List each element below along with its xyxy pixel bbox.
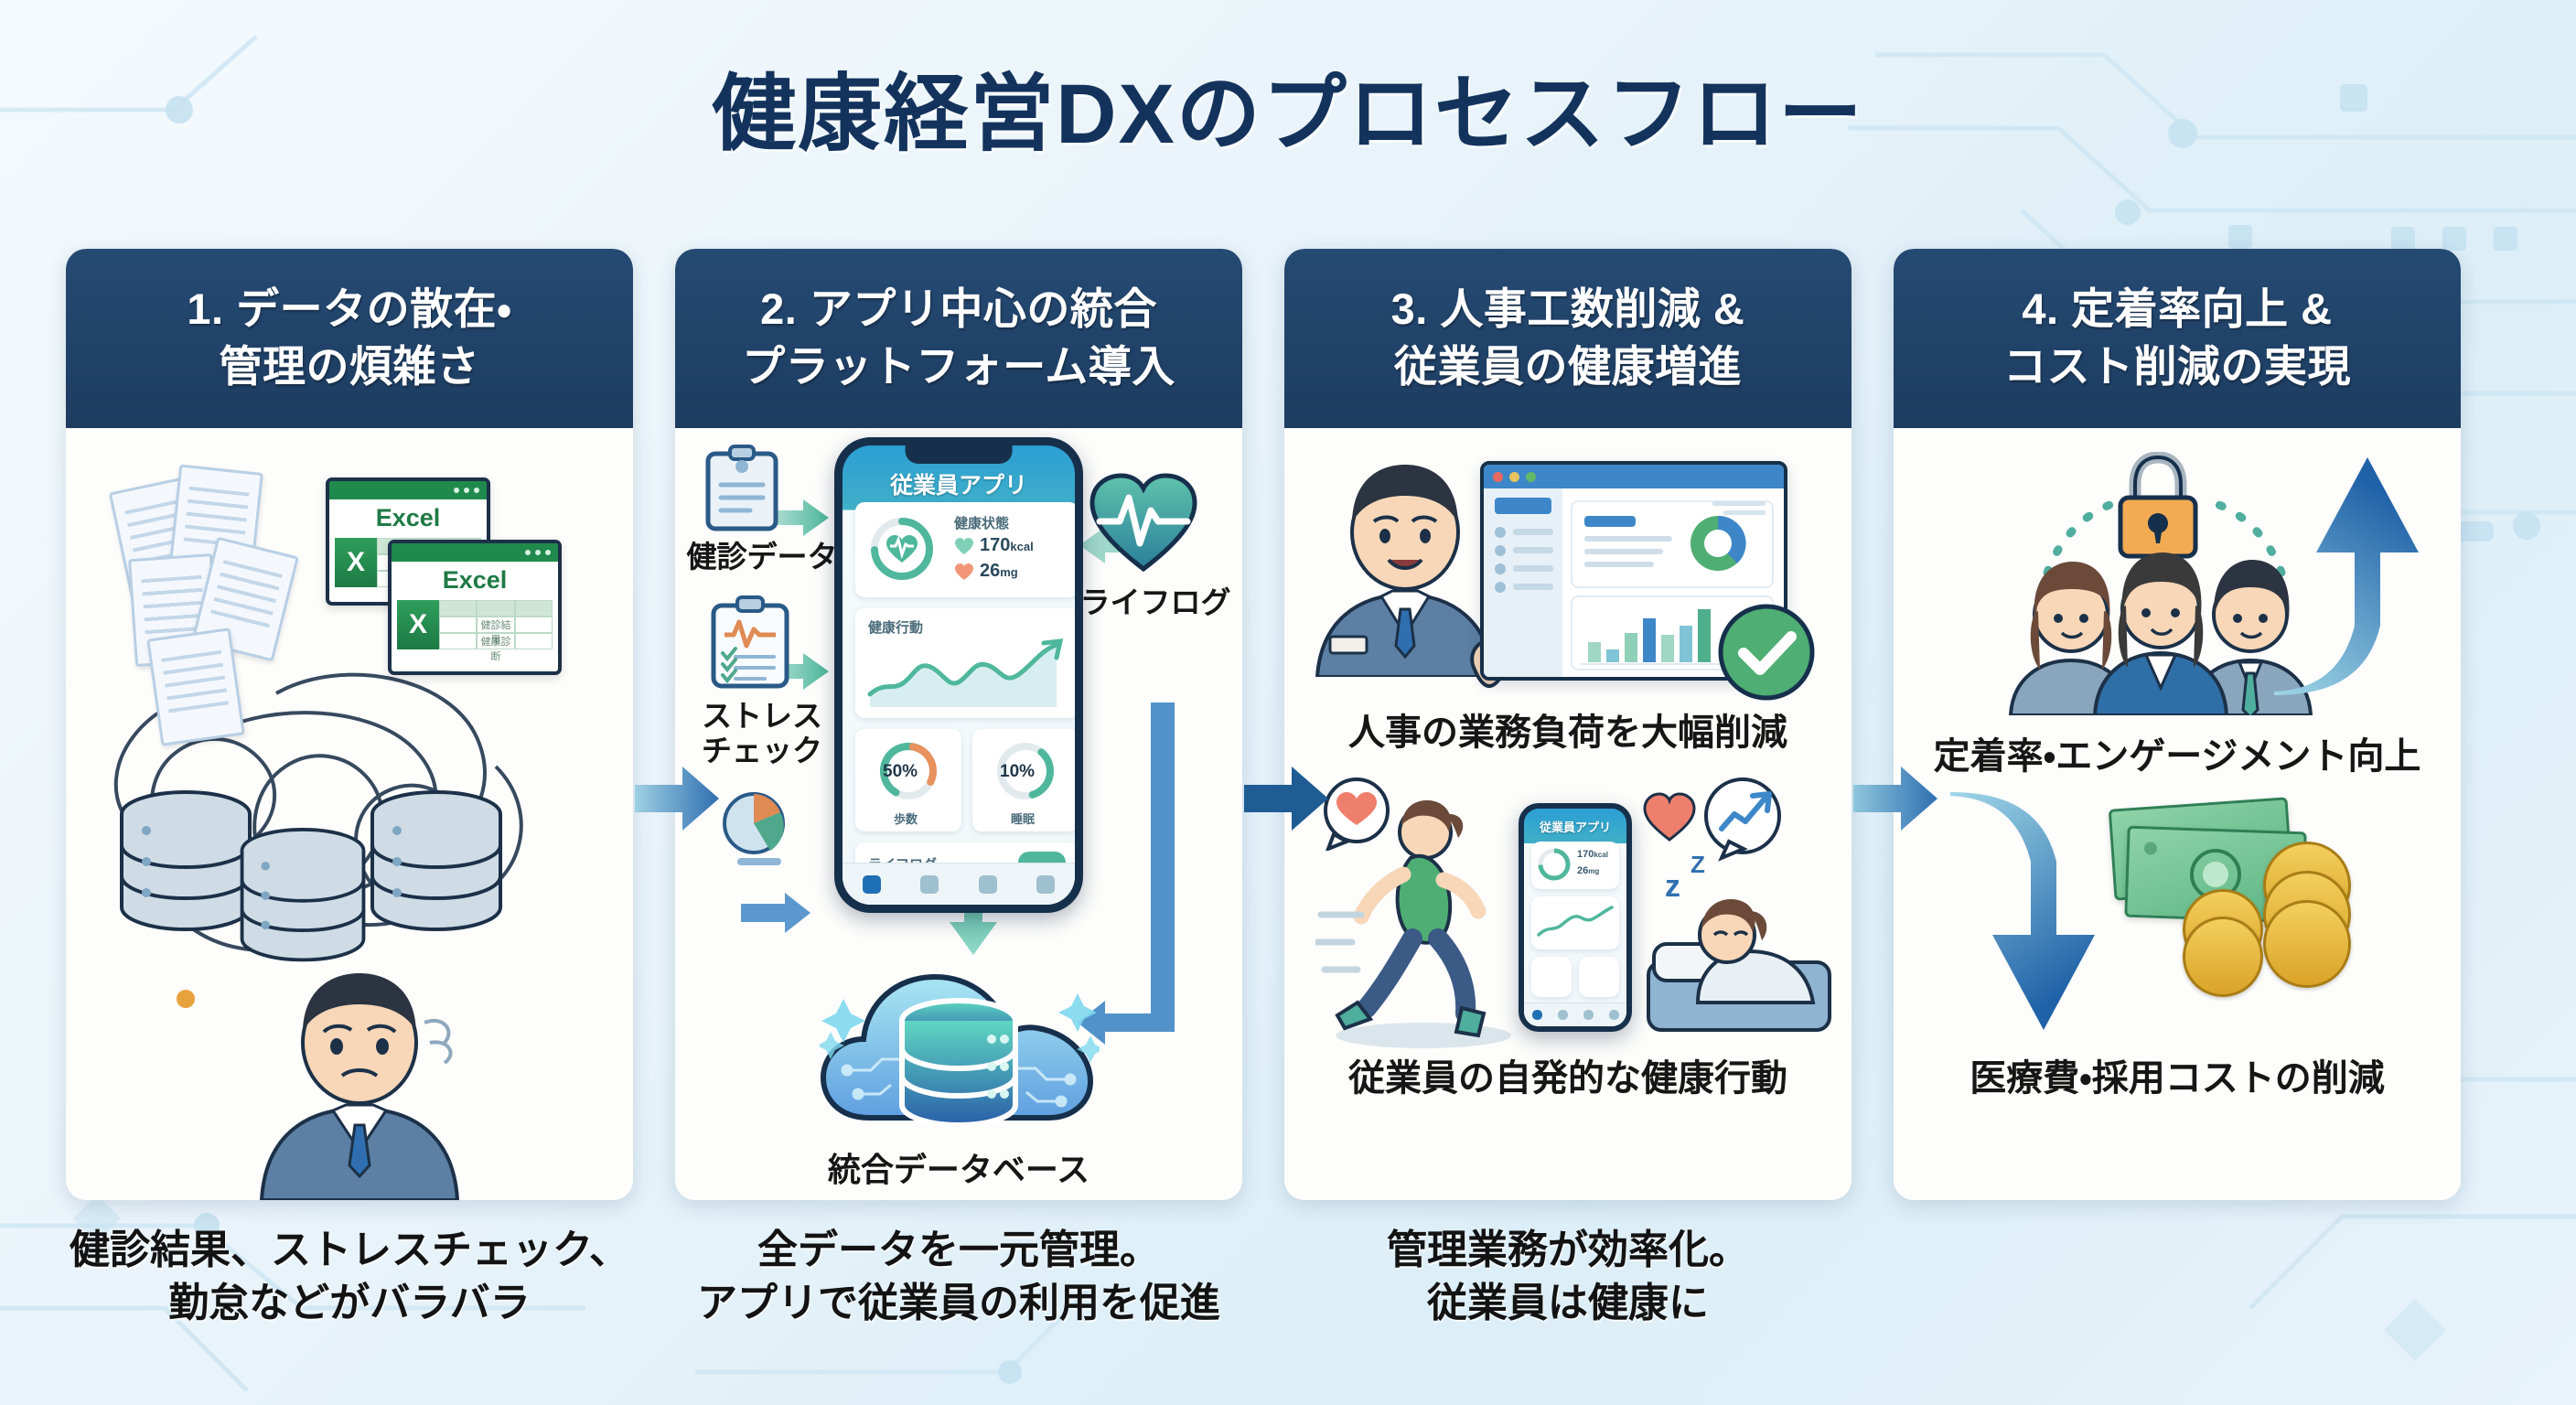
phone-status-card: 健康状態 170kcal 26mg xyxy=(855,502,1079,597)
window-maximize-icon[interactable] xyxy=(1526,472,1536,482)
step-card-3: 3. 人事工数削減 & 従業員の健康増進 xyxy=(1284,249,1851,1330)
phone-status-label: 健康状態 xyxy=(954,513,1009,532)
nav-chat-icon[interactable] xyxy=(979,875,997,894)
step-2-caption: 全データを一元管理。 アプリで従業員の利用を促進 xyxy=(697,1224,1220,1330)
document-sheet xyxy=(146,627,245,746)
step-1-illustration: Excel X Excel X xyxy=(66,428,633,1200)
nav-profile-icon[interactable] xyxy=(1036,875,1055,894)
step-4-header-line2: コスト削減の実現 xyxy=(1908,340,2446,392)
phone-gauge-1-label: 歩数 xyxy=(894,810,918,827)
phone-metric-1-unit: kcal xyxy=(1010,540,1033,553)
phone-metric-1-value: 170 xyxy=(980,535,1010,555)
phone-app-title-small: 従業員アプリ xyxy=(1524,818,1626,835)
health-checkup-clipboard-icon xyxy=(703,445,781,532)
phone-notch xyxy=(906,445,1013,464)
phone-metric-2-unit: mg xyxy=(1000,565,1018,579)
step-4-label-bottom: 医療費・採用コストの削減 xyxy=(1894,1057,2461,1099)
excel-logo-x: X xyxy=(397,600,439,649)
calorie-heart-icon xyxy=(954,537,974,555)
phone-mini-metric-2: 26mg xyxy=(1577,865,1599,876)
retention-up-arrow-icon xyxy=(2267,446,2422,695)
step-1-card: 1. データの散在・ 管理の煩雑さ xyxy=(66,249,633,1200)
health-ring-chart xyxy=(868,515,936,583)
excel-window-front: Excel X 健診結果 健康診断 xyxy=(388,540,562,675)
step-3-header: 3. 人事工数削減 & 従業員の健康増進 xyxy=(1284,249,1851,428)
analytics-pie-icon xyxy=(714,787,801,874)
nav-profile-icon[interactable] xyxy=(1609,1010,1619,1020)
excel-cells: 健診結果 健康診断 xyxy=(439,600,553,649)
stress-check-clipboard-icon xyxy=(708,595,792,692)
step-3-header-line2: 従業員の健康増進 xyxy=(1299,340,1837,392)
lifelog-heart-pulse-icon xyxy=(1087,470,1200,578)
svg-text:z: z xyxy=(1665,869,1680,904)
nav-home-icon[interactable] xyxy=(863,875,881,894)
step-2-illustration: 健診データ ストレス チェック xyxy=(675,428,1242,1200)
phone-mini-metric-1: 170kcal xyxy=(1577,849,1608,860)
database-cylinder-icon xyxy=(364,787,509,940)
step-2-header: 2. アプリ中心の統合 プラットフォーム導入 xyxy=(675,249,1242,428)
window-close-icon[interactable] xyxy=(1493,472,1503,482)
page-title: 健康経営DXのプロセスフロー xyxy=(0,46,2576,167)
coin-icon xyxy=(2263,900,2351,988)
success-check-icon xyxy=(1716,602,1817,702)
step-2-card: 2. アプリ中心の統合 プラットフォーム導入 xyxy=(675,249,1242,1200)
sheet-row-2: 健康診断 xyxy=(477,633,514,649)
step-2-header-line2: プラットフォーム導入 xyxy=(690,340,1228,392)
phone-bottom-nav[interactable] xyxy=(843,863,1075,905)
database-label: 統合データベース xyxy=(675,1151,1242,1189)
step-4-header: 4. 定着率向上 & コスト削減の実現 xyxy=(1894,249,2461,428)
sheet-row-1: 健診結果 xyxy=(477,617,514,633)
phone-bottom-nav-small[interactable] xyxy=(1524,1003,1626,1026)
step-1-header-line2: 管理の煩雑さ xyxy=(80,340,618,392)
nav-home-icon[interactable] xyxy=(1532,1010,1542,1020)
window-minimize-icon[interactable] xyxy=(1509,472,1519,482)
phone-gauge-1-value: 50% xyxy=(883,762,918,782)
input-label-health-checkup: 健診データ xyxy=(675,540,849,574)
step-card-4: 4. 定着率向上 & コスト削減の実現 xyxy=(1894,249,2461,1224)
input-label-lifelog: ライフログ xyxy=(1068,585,1242,620)
worried-employee-illustration xyxy=(245,955,474,1200)
database-cylinder-icon xyxy=(234,823,371,971)
sleeping-employee-illustration: z Z xyxy=(1643,842,1835,1043)
phone-metric-2-value: 26 xyxy=(980,561,1000,581)
mini-trend-chart xyxy=(1535,904,1615,942)
employee-app-phone: 従業員アプリ 健康状態 xyxy=(834,437,1083,913)
nav-record-icon[interactable] xyxy=(1558,1010,1568,1020)
arrow-step1-to-step2 xyxy=(635,767,719,831)
arrow-step2-to-step3 xyxy=(1244,767,1328,831)
heart-icon xyxy=(954,563,974,581)
step-3-card: 3. 人事工数削減 & 従業員の健康増進 xyxy=(1284,249,1851,1200)
step-3-label-bottom: 従業員の自発的な健康行動 xyxy=(1284,1057,1851,1099)
step-3-caption: 管理業務が効率化。 従業員は健康に xyxy=(1387,1224,1749,1330)
phone-metric-2: 26mg xyxy=(980,561,1018,582)
step-2-header-line1: 2. アプリ中心の統合 xyxy=(690,283,1228,335)
step-card-1: 1. データの散在・ 管理の煩雑さ xyxy=(66,249,633,1330)
excel-app-label: Excel xyxy=(392,562,558,596)
phone-card xyxy=(1531,957,1572,997)
cost-down-arrow-icon xyxy=(1943,792,2098,1041)
phone-activity-label: 健康行動 xyxy=(868,617,923,637)
heart-bubble-icon xyxy=(1317,778,1396,851)
step-1-header: 1. データの散在・ 管理の煩雑さ xyxy=(66,249,633,428)
excel-logo-x: X xyxy=(335,538,377,587)
phone-app-title: 従業員アプリ xyxy=(843,467,1075,500)
phone-activity-card: 健康行動 xyxy=(855,608,1079,718)
step-4-illustration: 定着率・エンゲージメント向上 xyxy=(1894,428,2461,1200)
heart-icon-small xyxy=(1643,792,1696,842)
excel-titlebar xyxy=(329,481,487,499)
excel-grid: X 健診結果 健康診断 xyxy=(392,596,558,657)
excel-titlebar xyxy=(392,543,558,562)
phone-gauge-card-2: 10% 睡眠 xyxy=(972,729,1079,831)
process-flow-row: 1. データの散在・ 管理の煩雑さ xyxy=(0,249,2576,1200)
step-card-2: 2. アプリ中心の統合 プラットフォーム導入 xyxy=(675,249,1242,1330)
step-4-label-top: 定着率・エンゲージメント向上 xyxy=(1894,735,2461,778)
mini-ring-chart xyxy=(1537,847,1572,882)
step-1-caption: 健診結果、ストレスチェック、 勤怠などがバラバラ xyxy=(70,1224,629,1330)
page-title-bar: 健康経営DXのプロセスフロー xyxy=(0,46,2576,167)
employee-app-phone-small: 従業員アプリ 170kcal 26mg xyxy=(1519,803,1632,1032)
phone-gauge-2-value: 10% xyxy=(1000,762,1035,782)
phone-gauge-2-label: 睡眠 xyxy=(1011,810,1035,827)
svg-text:Z: Z xyxy=(1690,851,1705,878)
coin-icon xyxy=(2183,917,2263,997)
arrow-step3-to-step4 xyxy=(1853,767,1937,831)
step-3-header-line1: 3. 人事工数削減 & xyxy=(1299,283,1837,335)
window-titlebar xyxy=(1484,465,1784,488)
phone-metric-1: 170kcal xyxy=(980,535,1034,556)
step-3-illustration: 人事の業務負荷を大幅削減 xyxy=(1284,428,1851,1200)
step-1-header-line1: 1. データの散在・ xyxy=(80,283,618,335)
activity-trend-chart xyxy=(864,638,1069,711)
nav-record-icon[interactable] xyxy=(920,875,939,894)
step-4-header-line1: 4. 定着率向上 & xyxy=(1908,283,2446,335)
nav-chat-icon[interactable] xyxy=(1583,1010,1594,1020)
phone-card xyxy=(1579,957,1619,997)
integrated-database-cloud-icon xyxy=(820,951,1100,1149)
excel-app-label: Excel xyxy=(329,499,487,534)
phone-gauge-card-1: 50% 歩数 xyxy=(855,729,961,831)
step-3-label-top: 人事の業務負荷を大幅削減 xyxy=(1284,712,1851,754)
input-label-stress-check: ストレス チェック xyxy=(675,699,849,769)
step-4-card: 4. 定着率向上 & コスト削減の実現 xyxy=(1894,249,2461,1200)
